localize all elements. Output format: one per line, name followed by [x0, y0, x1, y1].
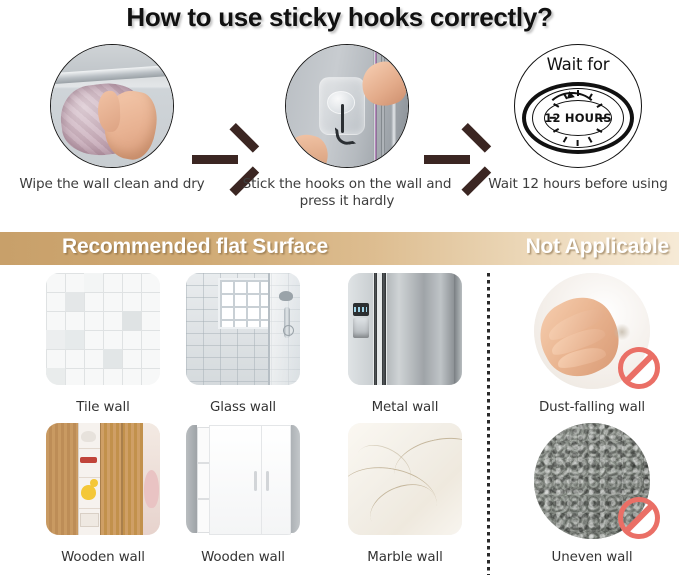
- tile-wall-thumb: [46, 273, 160, 385]
- surface-label: Wooden wall: [28, 550, 178, 565]
- surface-label: Uneven wall: [512, 550, 672, 565]
- surface-label: Glass wall: [168, 400, 318, 415]
- step-1-photo: [50, 44, 174, 168]
- surface-label: Metal wall: [330, 400, 480, 415]
- vertical-dotted-divider: [487, 273, 490, 575]
- surface-item-marble-wall: Marble wall: [330, 423, 480, 573]
- duck-toy-icon: [81, 485, 96, 501]
- surface-item-dust-falling-wall: Dust-falling wall: [512, 273, 672, 423]
- marble-wall-thumb: [348, 423, 462, 535]
- wooden-wall-thumb: [46, 423, 160, 535]
- page-title: How to use sticky hooks correctly?: [0, 2, 679, 33]
- step-1-caption: Wipe the wall clean and dry: [0, 176, 224, 193]
- surface-item-wooden-wall-1: Wooden wall: [28, 423, 178, 573]
- steps-row: Wipe the wall clean and dry Stick the ho…: [0, 44, 679, 224]
- falling-dust-icon: [613, 324, 632, 340]
- surface-item-uneven-wall: Uneven wall: [512, 423, 672, 573]
- surface-banner: Recommended flat Surface Not Applicable: [0, 232, 679, 265]
- surface-item-glass-wall: Glass wall: [168, 273, 318, 423]
- step-1: Wipe the wall clean and dry: [18, 44, 206, 224]
- banner-not-applicable-label: Not Applicable: [526, 235, 669, 259]
- metal-wall-thumb: [348, 273, 462, 385]
- no-entry-sign-icon: [618, 497, 660, 539]
- surface-label: Wooden wall: [168, 550, 318, 565]
- step-3-caption: Wait 12 hours before using: [466, 176, 679, 193]
- water-dispenser: [353, 318, 369, 338]
- clock-top-label: Wait for: [506, 55, 650, 74]
- step-2: Stick the hooks on the wall and press it…: [253, 44, 441, 224]
- clock-center: 12 HOURS: [544, 100, 612, 136]
- surface-label: Tile wall: [28, 400, 178, 415]
- step-2-photo: [285, 44, 409, 168]
- no-entry-sign-icon: [618, 347, 660, 389]
- banner-recommended-label: Recommended flat Surface: [62, 235, 328, 259]
- clock-icon: Wait for 12 HOURS: [506, 44, 650, 168]
- white-cabinet-thumb: [186, 423, 300, 535]
- surface-item-metal-wall: Metal wall: [330, 273, 480, 423]
- step-3: Wait for 12 HOURS Wait 12 hours before u…: [484, 44, 672, 224]
- step-2-caption: Stick the hooks on the wall and press it…: [235, 176, 459, 210]
- surface-label: Dust-falling wall: [512, 400, 672, 415]
- arrow-right-icon: [192, 140, 260, 180]
- clock-hours-label: 12 HOURS: [544, 111, 611, 125]
- surface-grid: Tile wall Glass wall: [0, 265, 679, 581]
- surface-item-tile-wall: Tile wall: [28, 273, 178, 423]
- fridge-display-panel: [353, 303, 369, 315]
- surface-item-wooden-wall-2: Wooden wall: [168, 423, 318, 573]
- glass-wall-thumb: [186, 273, 300, 385]
- surface-label: Marble wall: [330, 550, 480, 565]
- arrow-right-icon: [424, 140, 492, 180]
